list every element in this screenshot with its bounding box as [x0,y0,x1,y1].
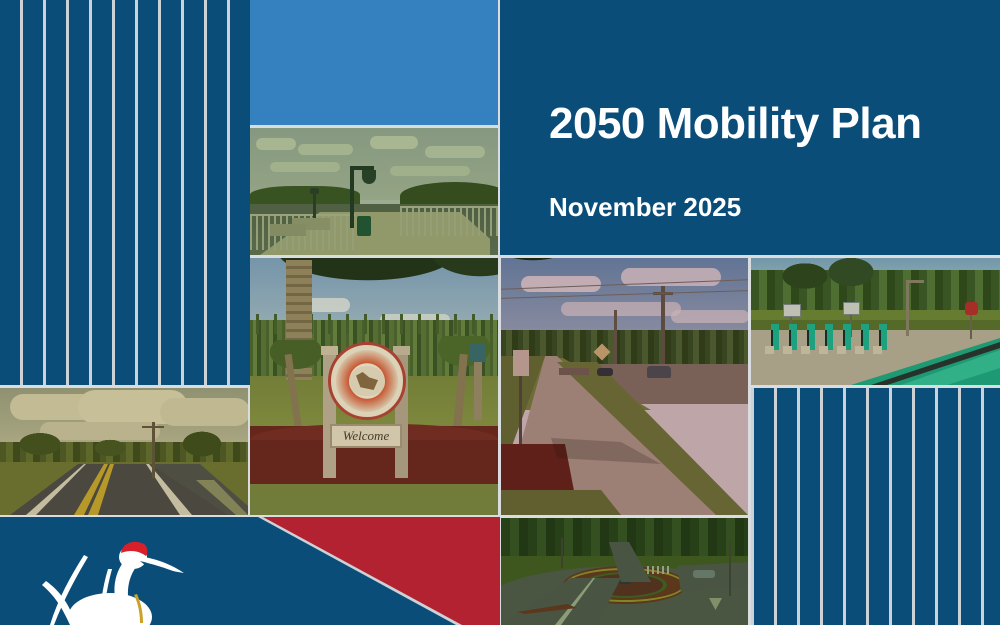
left-stripe-panel [0,0,250,385]
photo-tile-bike-share [751,258,1000,385]
page-subtitle: November 2025 [549,192,741,223]
photo-tile-arterial-road [0,388,248,515]
photo-tile-blue-block [250,0,498,125]
page-title: 2050 Mobility Plan [549,99,921,149]
photo-tile-welcome-sign: Welcome [250,258,498,515]
sandhill-crane-logo [0,517,260,625]
right-stripe-panel [751,388,1000,625]
photo-tile-boardwalk [250,128,498,255]
title-band: 2050 Mobility Plan November 2025 [500,0,1000,255]
report-cover-page: 2050 Mobility Plan November 2025 [0,0,1000,625]
photo-tile-roundabout [501,518,748,625]
photo-tile-sidewalk-corridor [501,258,748,515]
